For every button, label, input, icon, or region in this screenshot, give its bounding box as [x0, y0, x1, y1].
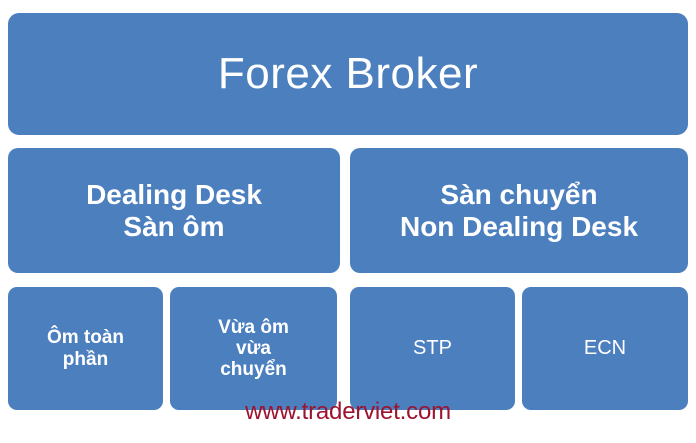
watermark-text: www.traderviet.com: [0, 398, 696, 426]
node-ecn: ECN: [522, 287, 688, 410]
node-om-toan-phan: Ôm toàn phần: [8, 287, 163, 410]
diagram-canvas: Forex Broker Dealing Desk Sàn ôm Sàn chu…: [0, 0, 696, 443]
node-stp: STP: [350, 287, 515, 410]
node-forex-broker: Forex Broker: [8, 13, 688, 135]
node-dealing-desk: Dealing Desk Sàn ôm: [8, 148, 340, 273]
node-vua-om-vua-chuyen: Vừa ôm vừa chuyển: [170, 287, 337, 410]
node-non-dealing-desk: Sàn chuyển Non Dealing Desk: [350, 148, 688, 273]
